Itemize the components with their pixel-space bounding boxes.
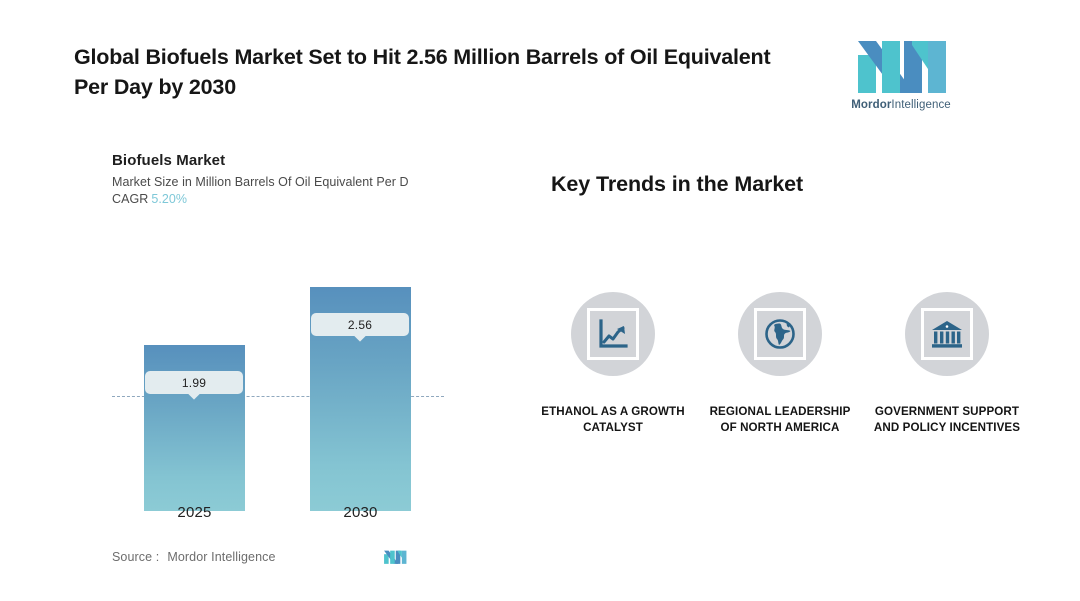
page-title: Global Biofuels Market Set to Hit 2.56 M… — [74, 42, 774, 102]
mordor-wordmark: MordorIntelligence — [842, 99, 960, 111]
source-name: Mordor Intelligence — [167, 550, 275, 564]
trend-item-ethanol[interactable]: ETHANOL AS A GROWTH CATALYST — [535, 292, 691, 436]
bar-value-label-2025: 1.99 — [145, 371, 243, 394]
trend-caption: REGIONAL LEADERSHIP OF NORTH AMERICA — [702, 404, 858, 436]
trend-icon-frame — [921, 308, 973, 360]
globe-americas-icon — [763, 317, 797, 351]
chart-plot-area: 1.99 2.56 2025 2030 Source : Mordor Inte… — [112, 232, 452, 567]
x-axis-label-2025: 2025 — [144, 504, 245, 521]
chart-title: Biofuels Market — [112, 152, 452, 169]
trend-item-government[interactable]: GOVERNMENT SUPPORT AND POLICY INCENTIVES — [869, 292, 1025, 436]
trend-icon-circle — [571, 292, 655, 376]
trend-icon-circle — [738, 292, 822, 376]
chart-subtitle: Market Size in Million Barrels Of Oil Eq… — [112, 175, 454, 189]
growth-chart-icon — [596, 317, 630, 351]
cagr-value: 5.20% — [151, 192, 187, 206]
source-label: Source : — [112, 550, 159, 564]
trend-icon-circle — [905, 292, 989, 376]
government-building-icon — [930, 317, 964, 351]
trend-item-regional[interactable]: REGIONAL LEADERSHIP OF NORTH AMERICA — [702, 292, 858, 436]
mordor-mark-icon — [380, 547, 410, 567]
chart-source-row: Source : Mordor Intelligence — [112, 550, 452, 564]
mordor-intelligence-logo: MordorIntelligence — [842, 35, 960, 115]
chart-cagr: CAGR5.20% — [112, 192, 452, 206]
trend-caption: GOVERNMENT SUPPORT AND POLICY INCENTIVES — [869, 404, 1025, 436]
trend-caption: ETHANOL AS A GROWTH CATALYST — [535, 404, 691, 436]
trends-row: ETHANOL AS A GROWTH CATALYST REGIONAL LE… — [535, 292, 1025, 436]
x-axis-label-2030: 2030 — [310, 504, 411, 521]
wordmark-bold: Mordor — [851, 99, 891, 111]
chart-panel: Biofuels Market Market Size in Million B… — [112, 152, 452, 552]
trends-title: Key Trends in the Market — [551, 172, 803, 197]
mordor-logo-mark-icon — [842, 35, 960, 97]
wordmark-light: Intelligence — [891, 99, 950, 111]
bar-2025[interactable] — [144, 345, 245, 511]
cagr-label: CAGR — [112, 192, 148, 206]
trend-icon-frame — [587, 308, 639, 360]
trend-icon-frame — [754, 308, 806, 360]
bar-value-label-2030: 2.56 — [311, 313, 409, 336]
